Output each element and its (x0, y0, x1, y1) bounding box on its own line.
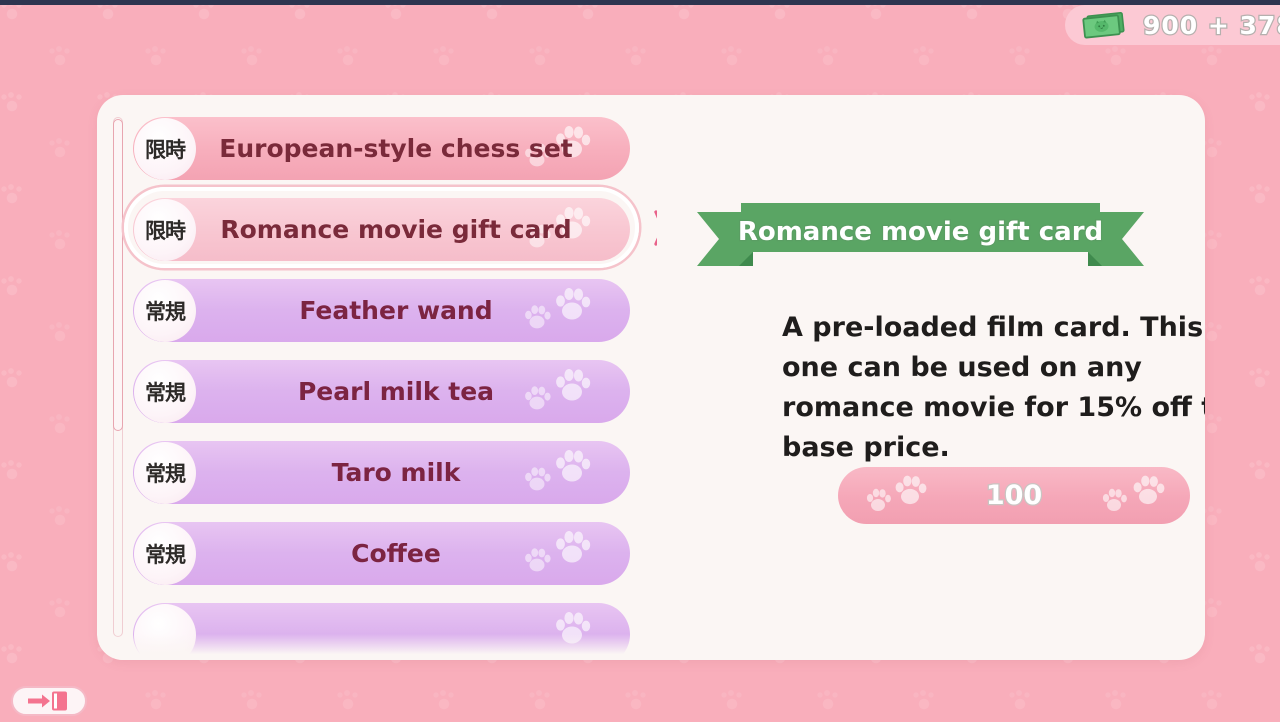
paw-print-icon (864, 487, 892, 513)
list-item-badge-label: 常規 (145, 377, 185, 407)
list-item-label: Taro milk (196, 458, 630, 487)
price-buy-button[interactable]: 100 (838, 467, 1190, 524)
list-item-label: European-style chess set (196, 134, 630, 163)
list-item[interactable]: 常規 Feather wand (133, 277, 643, 344)
list-item-label: Pearl milk tea (196, 377, 630, 406)
list-item-badge: 常規 (134, 361, 196, 423)
item-description: A pre-loaded film card. This one can be … (782, 308, 1205, 468)
exit-button[interactable] (11, 686, 87, 716)
list-item-pill[interactable]: 常規 Pearl milk tea (133, 360, 630, 423)
list-item[interactable]: 限時 European-style chess set (133, 115, 643, 182)
item-list: 限時 European-style chess set (133, 115, 643, 660)
list-item-pill[interactable]: 限時 Romance movie gift card (133, 198, 630, 261)
item-title: Romance movie gift card (697, 200, 1144, 278)
paw-print-icon (892, 473, 928, 507)
list-item[interactable]: 常規 Taro milk (133, 439, 643, 506)
list-item-badge-label: 常規 (145, 296, 185, 326)
price-value: 100 (986, 480, 1042, 511)
list-item-badge-label: 限時 (145, 134, 185, 164)
list-item-badge: 常規 (134, 280, 196, 342)
currency-amount: 900 + 3787 (1143, 11, 1280, 40)
paw-print-icon (552, 609, 592, 647)
banknote-cat-icon (1081, 11, 1127, 39)
list-item-badge-label: 常規 (145, 539, 185, 569)
list-item-badge: 限時 (134, 118, 196, 180)
item-list-region: 限時 European-style chess set (97, 95, 657, 660)
list-item[interactable]: 常規 Coffee (133, 520, 643, 587)
top-edge-bar (0, 0, 1280, 5)
list-item-badge: 常規 (134, 523, 196, 585)
exit-door-icon (24, 690, 74, 712)
list-item-pill[interactable]: 常規 Taro milk (133, 441, 630, 504)
list-item-pill[interactable]: 常規 Feather wand (133, 279, 630, 342)
list-item-partial[interactable] (133, 601, 643, 660)
list-item-pill[interactable] (133, 603, 630, 660)
list-item-badge: 常規 (134, 442, 196, 504)
list-item-label: Coffee (196, 539, 630, 568)
item-detail-pane: Romance movie gift card A pre-loaded fil… (672, 95, 1205, 660)
currency-hud: 900 + 3787 (1065, 5, 1280, 45)
item-title-ribbon: Romance movie gift card (697, 200, 1144, 278)
list-item-selected[interactable]: 限時 Romance movie gift card (133, 196, 643, 263)
paw-print-icon (1100, 487, 1128, 513)
list-item-label: Feather wand (196, 296, 630, 325)
list-item-badge-label: 常規 (145, 458, 185, 488)
list-item-label: Romance movie gift card (196, 215, 630, 244)
list-item-badge (134, 604, 196, 661)
paw-print-icon (1130, 473, 1166, 507)
list-item-badge-label: 限時 (145, 215, 185, 245)
selection-arrow-icon (651, 208, 657, 248)
list-item-badge: 限時 (134, 199, 196, 261)
list-item-pill[interactable]: 限時 European-style chess set (133, 117, 630, 180)
list-scrollbar-thumb[interactable] (113, 119, 123, 431)
shop-panel: 限時 European-style chess set (97, 95, 1205, 660)
list-item[interactable]: 常規 Pearl milk tea (133, 358, 643, 425)
list-item-pill[interactable]: 常規 Coffee (133, 522, 630, 585)
shop-screen: 900 + 3787 限時 European-style chess set (0, 0, 1280, 722)
